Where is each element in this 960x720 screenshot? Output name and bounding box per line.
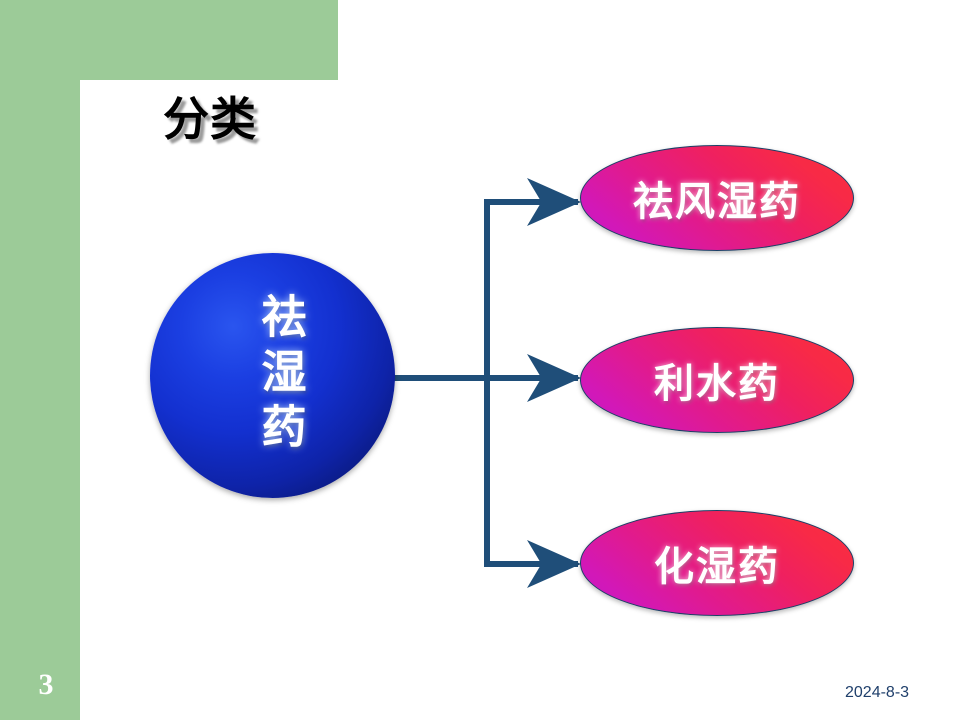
leaf-node-2[interactable]: 化湿药	[580, 510, 854, 616]
page-number: 3	[26, 668, 66, 702]
leaf-node-0[interactable]: 祛风湿药	[580, 145, 854, 251]
slide-canvas: 分类 祛湿药 祛风湿药 利水药 化湿药 3 2024-8-	[0, 0, 960, 720]
center-node-qushiyao[interactable]: 祛湿药	[150, 253, 395, 498]
leaf-node-label-0: 祛风湿药	[633, 169, 801, 227]
leaf-node-label-1: 利水药	[654, 351, 780, 409]
center-node-label: 祛湿药	[234, 293, 312, 458]
footer-date: 2024-8-3	[845, 684, 909, 702]
leaf-node-1[interactable]: 利水药	[580, 327, 854, 433]
leaf-node-label-2: 化湿药	[654, 534, 780, 592]
